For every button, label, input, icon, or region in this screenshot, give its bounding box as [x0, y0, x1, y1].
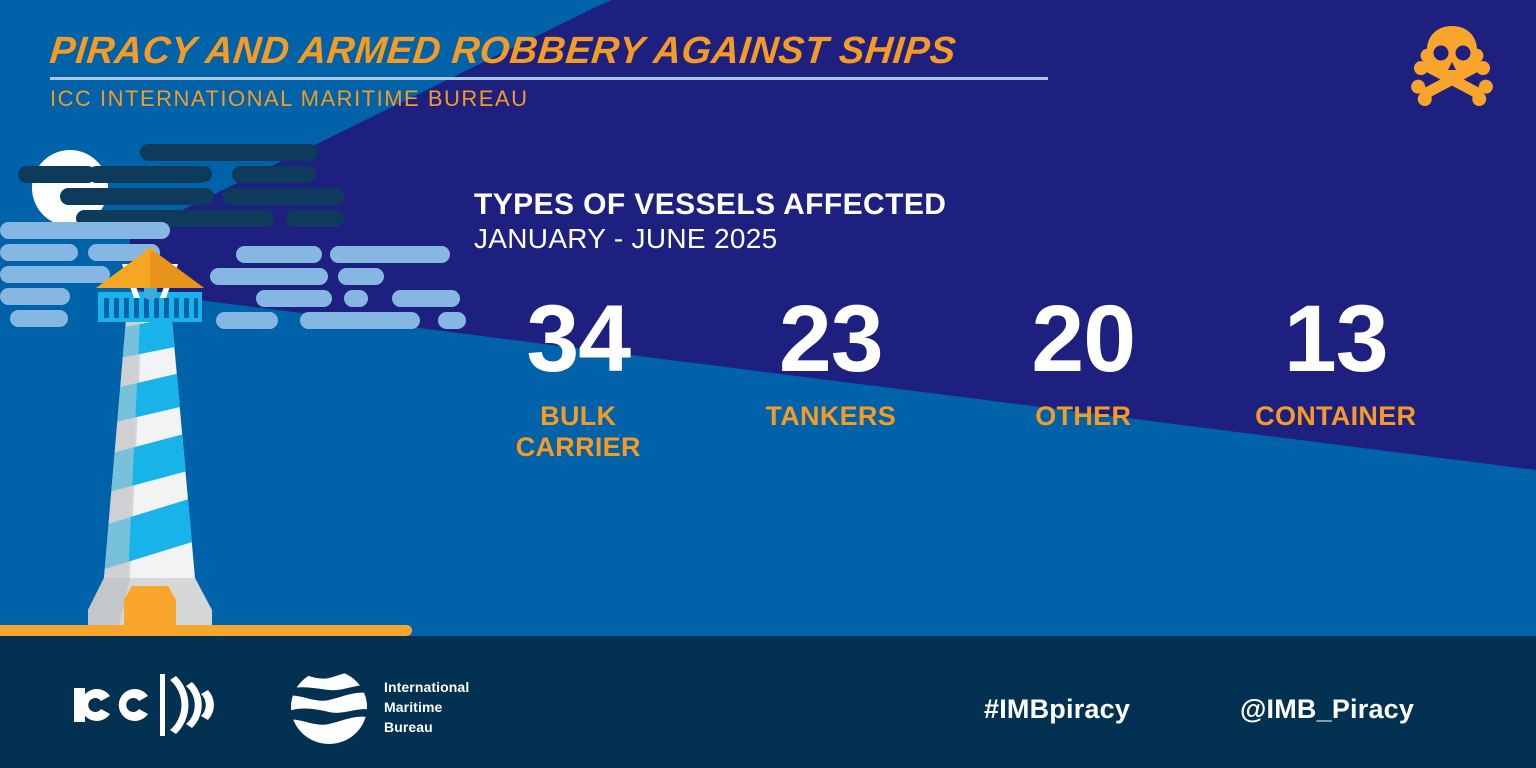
- lighthouse-illustration: [60, 248, 260, 638]
- imb-logo-text: International Maritime Bureau: [384, 678, 469, 738]
- title-underline: [50, 77, 1048, 80]
- handle-imb-piracy[interactable]: @IMB_Piracy: [1240, 694, 1414, 725]
- cloud-light: [330, 246, 450, 263]
- cloud-dark: [60, 188, 214, 205]
- imb-waves-logo: [288, 670, 370, 744]
- stat-value: 20: [1031, 292, 1135, 387]
- cloud-dark: [222, 188, 344, 205]
- imb-text-line-3: Bureau: [384, 718, 469, 738]
- page-title: PIRACY AND ARMED ROBBERY AGAINST SHIPS: [48, 30, 958, 73]
- stats-row: 34 BULK CARRIER 23 TANKERS 20 OTHER 13 C…: [452, 292, 1462, 502]
- stat-block: 20 OTHER: [957, 292, 1210, 502]
- stat-value: 13: [1284, 292, 1388, 387]
- stat-block: 34 BULK CARRIER: [452, 292, 705, 502]
- stat-block: 23 TANKERS: [705, 292, 958, 502]
- stat-label: OTHER: [1035, 401, 1131, 432]
- pier-ground-bar: [0, 625, 412, 636]
- cloud-light: [344, 290, 368, 307]
- icc-logo: [72, 674, 224, 736]
- cloud-light: [300, 312, 420, 329]
- page-subtitle: ICC INTERNATIONAL MARITIME BUREAU: [50, 86, 529, 112]
- cloud-dark: [18, 166, 96, 183]
- stat-label: TANKERS: [765, 401, 896, 432]
- cloud-dark: [88, 166, 208, 183]
- cloud-dark: [286, 210, 344, 227]
- main-heading: TYPES OF VESSELS AFFECTED: [474, 188, 946, 222]
- stat-value: 23: [779, 292, 883, 387]
- cloud-dark: [140, 144, 318, 161]
- imb-text-line-1: International: [384, 678, 469, 698]
- cloud-light: [256, 290, 332, 307]
- hashtag-imbpiracy[interactable]: #IMBpiracy: [984, 694, 1130, 725]
- cloud-dark: [232, 166, 316, 183]
- infographic-canvas: PIRACY AND ARMED ROBBERY AGAINST SHIPS I…: [0, 0, 1536, 768]
- cloud-light: [338, 268, 384, 285]
- stat-value: 34: [526, 292, 630, 387]
- stat-block: 13 CONTAINER: [1210, 292, 1463, 502]
- stat-label: BULK CARRIER: [488, 401, 668, 464]
- stat-label: CONTAINER: [1255, 401, 1416, 432]
- cloud-light: [0, 222, 170, 239]
- main-subheading: JANUARY - JUNE 2025: [474, 223, 777, 255]
- cloud-dark: [196, 166, 212, 182]
- cloud-light: [392, 290, 460, 307]
- skull-and-crossbones-icon: [1410, 24, 1494, 106]
- imb-text-line-2: Maritime: [384, 698, 469, 718]
